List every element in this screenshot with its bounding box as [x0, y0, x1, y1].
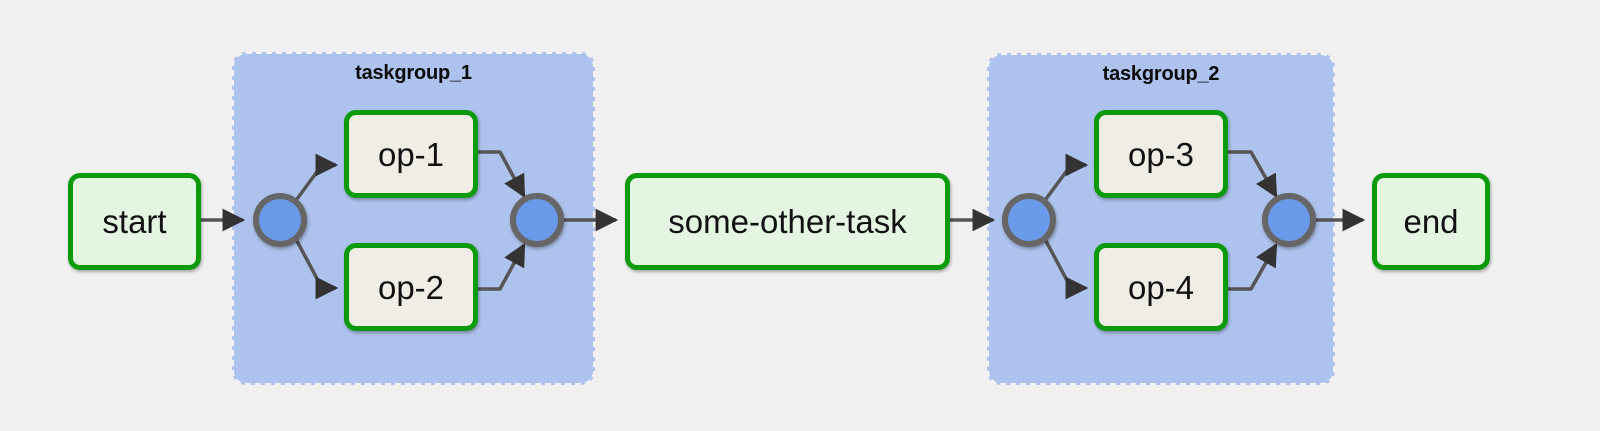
dag-graph-canvas: taskgroup_1 taskgroup_2: [0, 0, 1600, 431]
task-node-end[interactable]: end: [1372, 173, 1490, 270]
taskgroup1-fanout-joint[interactable]: [253, 193, 307, 247]
task-node-start-label: start: [102, 205, 166, 238]
task-node-start[interactable]: start: [68, 173, 201, 270]
task-node-op-1-label: op-1: [378, 138, 444, 171]
taskgroup1-fanin-joint[interactable]: [510, 193, 564, 247]
task-node-op-2-label: op-2: [378, 271, 444, 304]
task-node-op-3-label: op-3: [1128, 138, 1194, 171]
taskgroup-label-2: taskgroup_2: [989, 63, 1333, 86]
task-node-op-4[interactable]: op-4: [1094, 243, 1228, 331]
task-node-op-3[interactable]: op-3: [1094, 110, 1228, 198]
taskgroup2-fanin-joint[interactable]: [1262, 193, 1316, 247]
task-node-end-label: end: [1403, 205, 1458, 238]
task-node-op-1[interactable]: op-1: [344, 110, 478, 198]
task-node-op-2[interactable]: op-2: [344, 243, 478, 331]
task-node-some-other-task[interactable]: some-other-task: [625, 173, 950, 270]
task-node-some-other-task-label: some-other-task: [668, 205, 906, 238]
taskgroup-label-1: taskgroup_1: [234, 62, 593, 85]
task-node-op-4-label: op-4: [1128, 271, 1194, 304]
taskgroup2-fanout-joint[interactable]: [1002, 193, 1056, 247]
